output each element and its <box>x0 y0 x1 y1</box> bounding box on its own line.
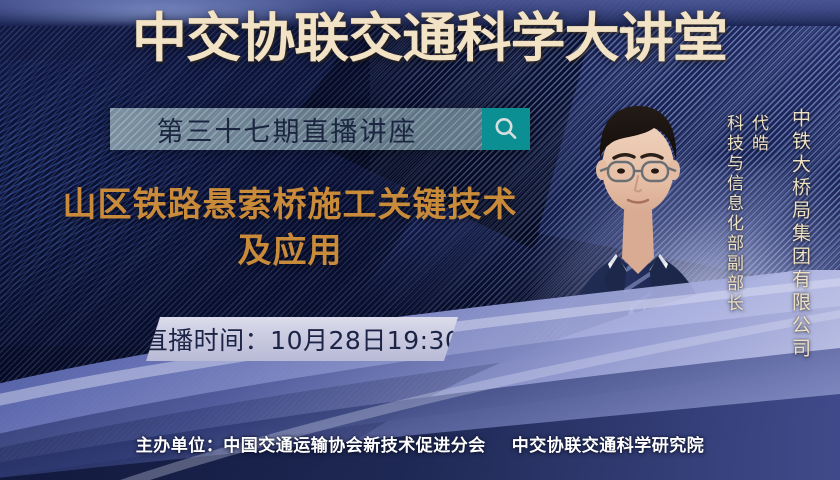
broadcast-time-text: 直播时间：10月28日19:30 <box>143 321 462 357</box>
speaker-info: 代皓 科技与信息化部副部长 中铁大桥局集团有限公司 <box>721 108 814 361</box>
footer-prefix: 主办单位： <box>136 436 224 456</box>
lecture-title: 山区铁路悬索桥施工关键技术 及应用 <box>26 182 554 274</box>
page-title: 中交协联交通科学大讲堂 <box>0 8 840 70</box>
speaker-title: 科技与信息化部副部长 <box>723 114 743 314</box>
series-band: 第三十七期直播讲座 <box>110 108 530 150</box>
series-band-label: 第三十七期直播讲座 <box>110 108 482 150</box>
search-icon[interactable] <box>482 108 530 150</box>
live-lecture-poster: 中交协联交通科学大讲堂 第三十七期直播讲座 山区铁路悬索桥施工关键技术 及应用 … <box>0 0 840 480</box>
speaker-name-and-title: 代皓 科技与信息化部副部长 <box>721 114 771 314</box>
speaker-organization: 中铁大桥局集团有限公司 <box>787 108 814 361</box>
lecture-title-line-1: 山区铁路悬索桥施工关键技术 <box>63 185 518 225</box>
footer-organizer-1: 中国交通运输协会新技术促进分会 <box>223 436 486 456</box>
footer-organizers: 主办单位：中国交通运输协会新技术促进分会中交协联交通科学研究院 <box>0 431 840 456</box>
speaker-name: 代皓 <box>748 114 768 154</box>
footer-organizer-2: 中交协联交通科学研究院 <box>512 436 705 456</box>
broadcast-time-pill: 直播时间：10月28日19:30 <box>146 317 458 361</box>
lecture-title-line-2: 及应用 <box>26 228 554 274</box>
